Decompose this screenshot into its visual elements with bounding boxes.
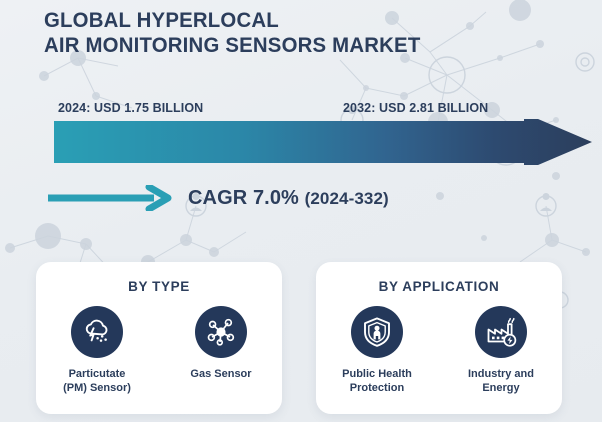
industry-energy-badge	[475, 306, 527, 358]
item-label-line-1: Public Health	[342, 368, 412, 380]
cloud-particulate-icon	[80, 315, 114, 349]
growth-arrow-bar	[54, 119, 592, 165]
segment-item-industry-and-energy[interactable]: Industry and Energy	[453, 306, 549, 395]
start-value-label: 2024: USD 1.75 BILLION	[58, 101, 203, 115]
public-health-badge	[351, 306, 403, 358]
shield-person-icon	[360, 315, 394, 349]
segment-card-by-type: BY TYPE Particutate (PM) Sensor)	[36, 262, 282, 414]
cagr-period: (2024-332)	[305, 189, 389, 208]
segment-item-label: Particutate (PM) Sensor)	[63, 367, 131, 395]
arrow-right-icon	[46, 185, 174, 211]
gas-sensor-badge	[195, 306, 247, 358]
item-label-line-1: Particutate	[69, 368, 126, 380]
item-label-line-2: Protection	[350, 382, 404, 394]
title-line-2: AIR MONITORING SENSORS MARKET	[44, 33, 471, 58]
segment-item-public-health-protection[interactable]: Public Health Protection	[329, 306, 425, 395]
page-title: GLOBAL HYPERLOCAL AIR MONITORING SENSORS…	[44, 8, 484, 58]
segment-item-gas-sensor[interactable]: Gas Sensor	[173, 306, 269, 395]
cagr-row: CAGR 7.0% (2024-332)	[46, 180, 389, 216]
card-items-by-type: Particutate (PM) Sensor)	[36, 306, 282, 395]
segment-item-label: Industry and Energy	[468, 367, 534, 395]
cagr-text: CAGR 7.0% (2024-332)	[188, 187, 389, 210]
end-value-label: 2032: USD 2.81 BILLION	[343, 101, 488, 115]
market-infographic: GLOBAL HYPERLOCAL AIR MONITORING SENSORS…	[0, 0, 602, 422]
molecule-icon	[204, 315, 238, 349]
card-title-by-application: BY APPLICATION	[316, 279, 562, 294]
segment-item-particulate-sensor[interactable]: Particutate (PM) Sensor)	[49, 306, 145, 395]
title-line-1: GLOBAL HYPERLOCAL	[44, 8, 471, 33]
factory-energy-icon	[484, 315, 518, 349]
card-items-by-application: Public Health Protection	[316, 306, 562, 395]
particulate-sensor-badge	[71, 306, 123, 358]
card-title-by-type: BY TYPE	[36, 279, 282, 294]
segment-item-label: Public Health Protection	[342, 367, 412, 395]
item-label-line-1: Gas Sensor	[190, 368, 251, 380]
cagr-value: CAGR 7.0%	[188, 187, 299, 209]
item-label-line-1: Industry and	[468, 368, 534, 380]
segment-card-by-application: BY APPLICATION Public Health Protection	[316, 262, 562, 414]
segment-item-label: Gas Sensor	[190, 367, 251, 381]
item-label-line-2: Energy	[482, 382, 519, 394]
item-label-line-2: (PM) Sensor)	[63, 382, 131, 394]
